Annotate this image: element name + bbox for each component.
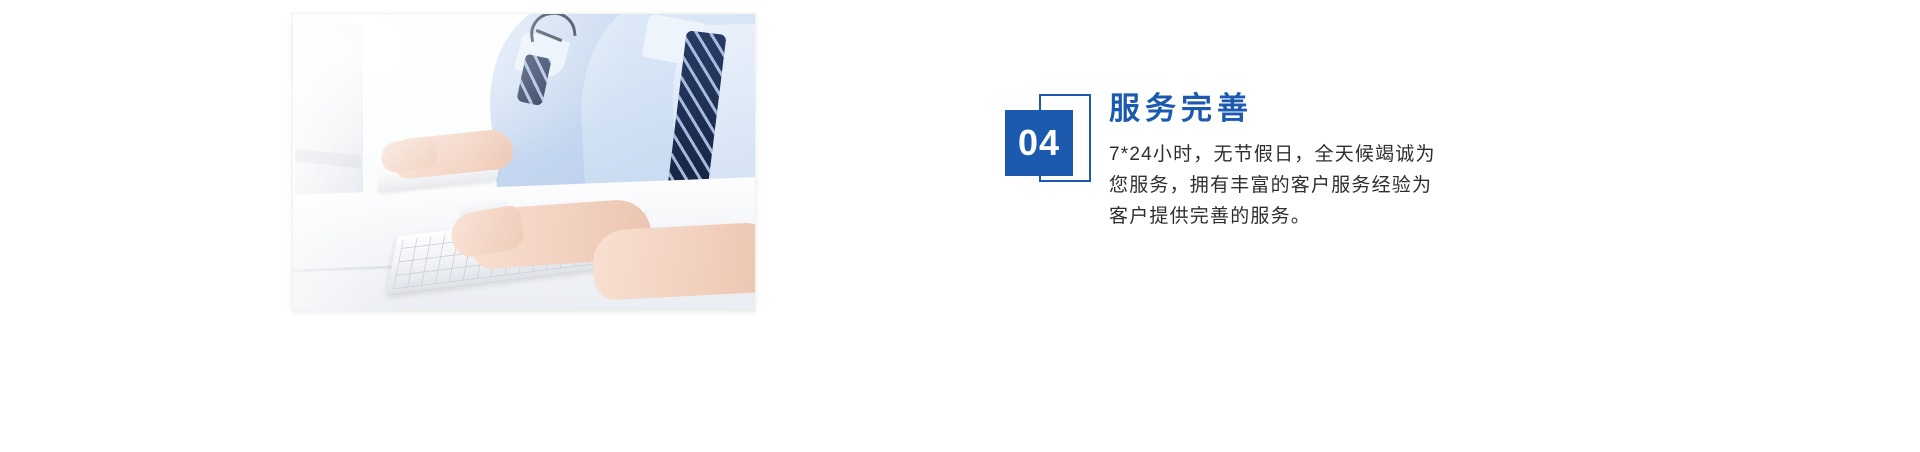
feature-description-line: 客户提供完善的服务。	[1109, 201, 1436, 232]
arm-front-shape	[591, 221, 755, 301]
badge-solid-square: 04	[1005, 110, 1073, 176]
feature-title: 服务完善	[1109, 90, 1436, 129]
office-workers-photo	[293, 14, 755, 311]
feature-text-block: 服务完善 7*24小时，无节假日，全天候竭诚为 您服务，拥有丰富的客户服务经验为…	[1109, 88, 1436, 232]
feature-description: 7*24小时，无节假日，全天候竭诚为 您服务，拥有丰富的客户服务经验为 客户提供…	[1109, 139, 1436, 232]
feature-description-line: 您服务，拥有丰富的客户服务经验为	[1109, 170, 1436, 201]
monitor-shape	[295, 18, 363, 205]
badge-number-label: 04	[1018, 125, 1060, 161]
service-feature-banner: 04 服务完善 7*24小时，无节假日，全天候竭诚为 您服务，拥有丰富的客户服务…	[0, 0, 1920, 452]
feature-photo-frame	[293, 14, 755, 311]
feature-number-badge: 04	[1005, 94, 1097, 196]
feature-content: 04 服务完善 7*24小时，无节假日，全天候竭诚为 您服务，拥有丰富的客户服务…	[1005, 88, 1436, 232]
feature-description-line: 7*24小时，无节假日，全天候竭诚为	[1109, 139, 1436, 170]
